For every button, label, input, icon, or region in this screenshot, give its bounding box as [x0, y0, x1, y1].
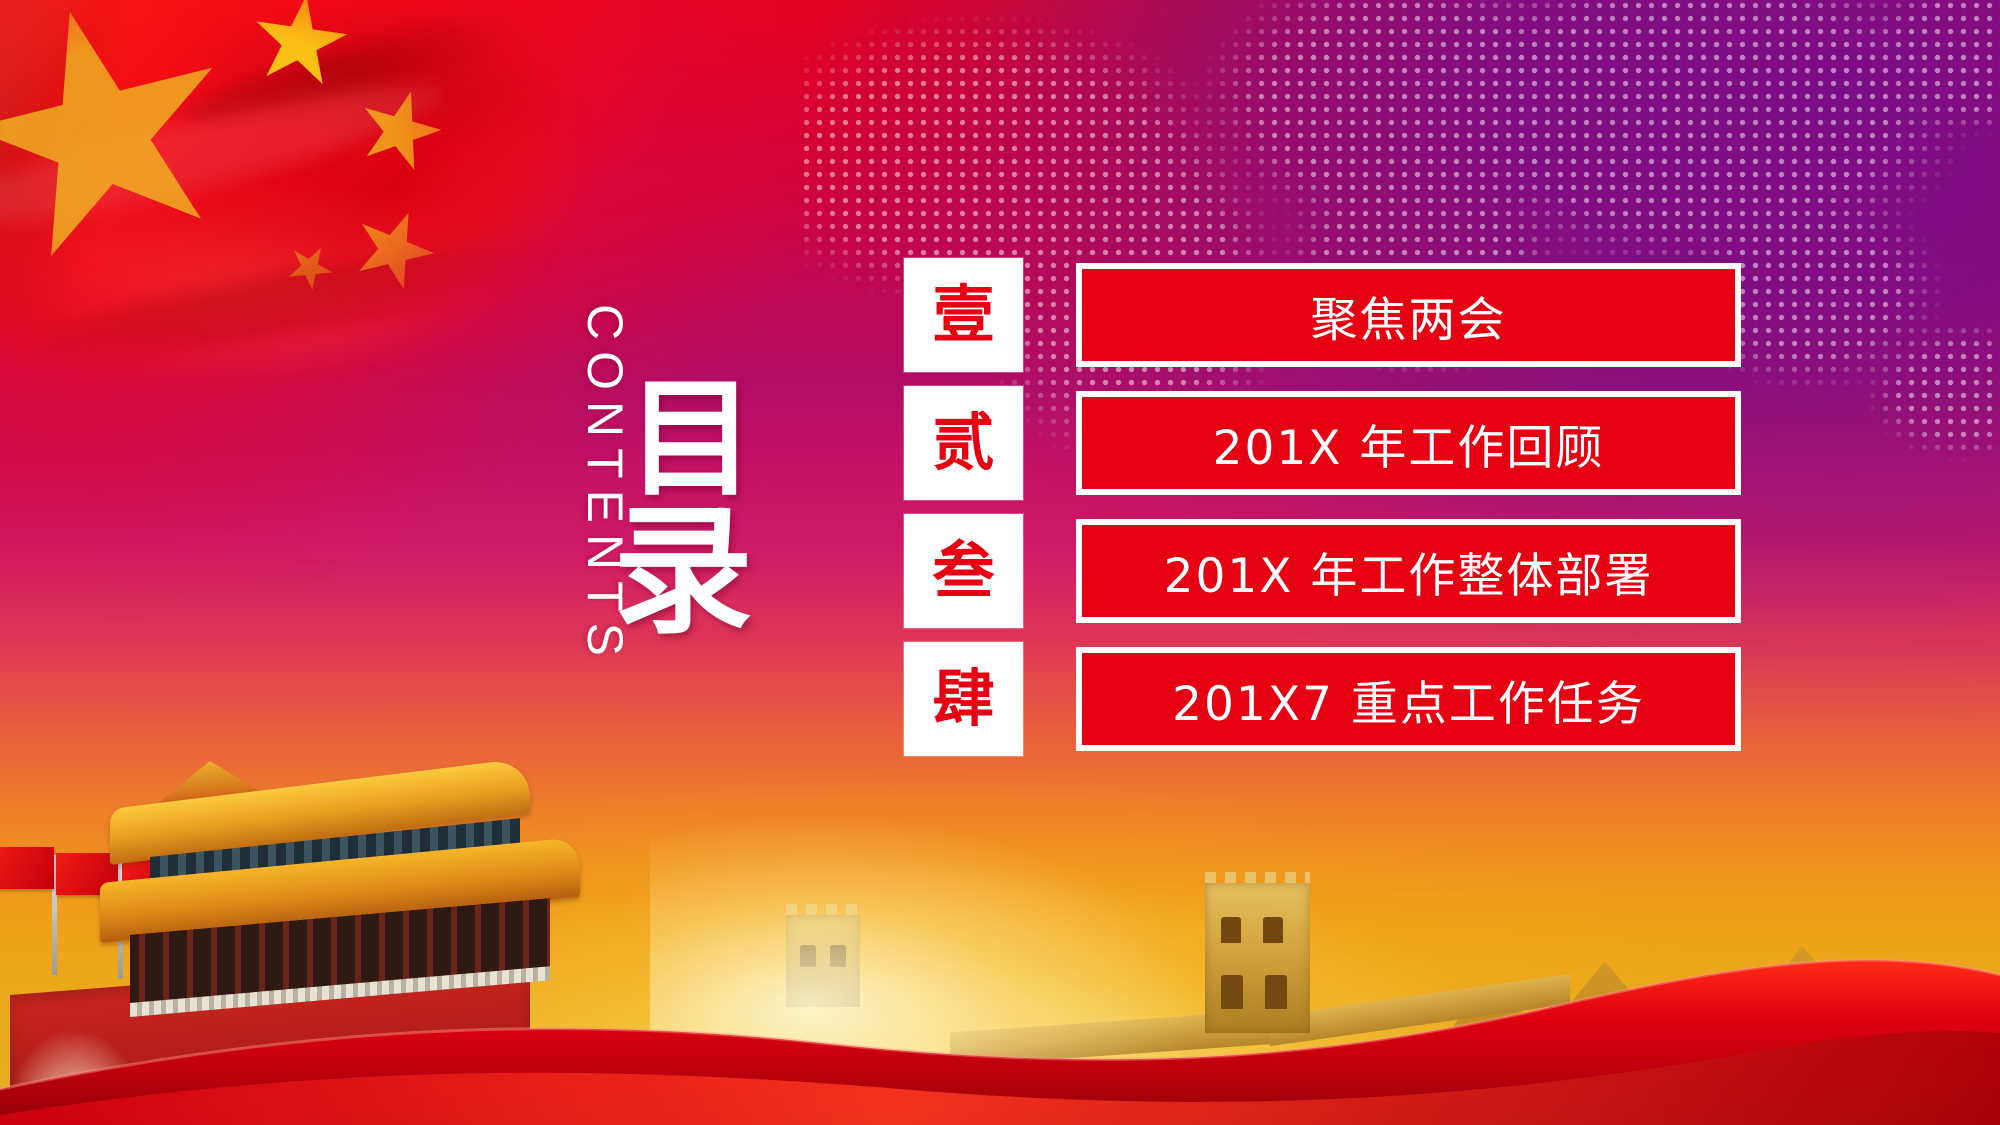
- toc-bar-2[interactable]: 201X 年工作回顾: [1076, 391, 1741, 495]
- toc-numeral-1: 壹: [932, 284, 994, 346]
- toc-numeral-3: 叁: [932, 540, 994, 602]
- mulu-char-2: 录: [613, 502, 755, 645]
- toc-item-1[interactable]: 壹 聚焦两会: [904, 258, 1741, 372]
- toc-bar-1[interactable]: 聚焦两会: [1076, 263, 1741, 367]
- toc-label-3: 201X 年工作整体部署: [1164, 537, 1654, 606]
- toc-number-box-1[interactable]: 壹: [904, 258, 1023, 372]
- toc-number-box-2[interactable]: 贰: [904, 386, 1023, 500]
- toc-numeral-2: 贰: [932, 412, 994, 474]
- toc-label-4: 201X7 重点工作任务: [1172, 665, 1645, 734]
- toc-list: 壹 聚焦两会 贰 201X 年工作回顾 叁 201X 年工作整体部署: [904, 258, 1741, 770]
- toc-bar-4[interactable]: 201X7 重点工作任务: [1076, 647, 1741, 751]
- mulu-title: 目 录: [627, 375, 755, 644]
- page-title: CONTENTS 目 录: [505, 280, 845, 800]
- red-silk-ribbon-icon: [0, 939, 2000, 1125]
- toc-label-2: 201X 年工作回顾: [1213, 409, 1605, 478]
- toc-item-3[interactable]: 叁 201X 年工作整体部署: [904, 514, 1741, 628]
- toc-item-2[interactable]: 贰 201X 年工作回顾: [904, 386, 1741, 500]
- toc-item-4[interactable]: 肆 201X7 重点工作任务: [904, 642, 1741, 756]
- ribbon-svg: [0, 939, 2000, 1125]
- toc-bar-3[interactable]: 201X 年工作整体部署: [1076, 519, 1741, 623]
- toc-numeral-4: 肆: [932, 668, 994, 730]
- toc-number-box-4[interactable]: 肆: [904, 642, 1023, 756]
- red-flag: [0, 847, 54, 889]
- toc-label-1: 聚焦两会: [1311, 281, 1507, 350]
- toc-number-box-3[interactable]: 叁: [904, 514, 1023, 628]
- slide-canvas: 中华人民共和国万岁: [0, 0, 2000, 1125]
